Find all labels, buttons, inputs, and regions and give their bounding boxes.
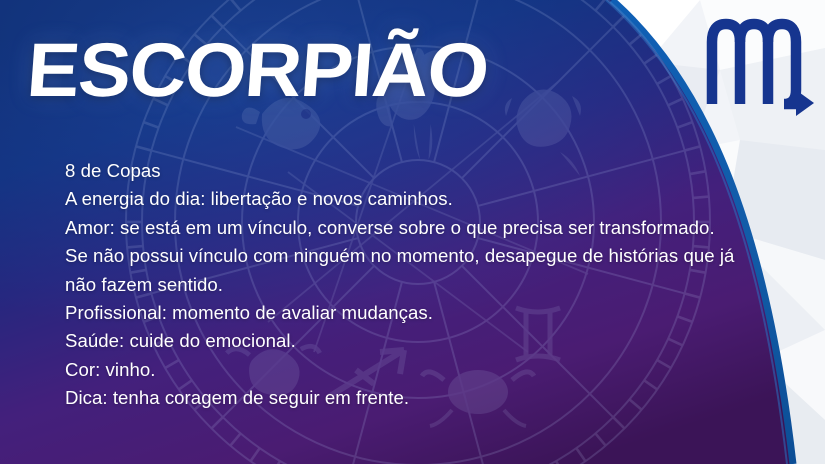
horoscope-line: Saúde: cuide do emocional.: [65, 327, 755, 355]
horoscope-line: Amor: se está em um vínculo, converse so…: [65, 214, 755, 242]
scorpio-glyph-graphic: [700, 8, 818, 120]
horoscope-line: Dica: tenha coragem de seguir em frente.: [65, 384, 755, 412]
horoscope-line: 8 de Copas: [65, 157, 755, 185]
horoscope-text-block: 8 de Copas A energia do dia: libertação …: [65, 157, 755, 413]
horoscope-line: A energia do dia: libertação e novos cam…: [65, 185, 755, 213]
scorpio-zodiac-glyph-icon: [700, 8, 818, 120]
horoscope-line: Profissional: momento de avaliar mudança…: [65, 299, 755, 327]
horoscope-line: Se não possui vínculo com ninguém no mom…: [65, 242, 755, 299]
horoscope-line: Cor: vinho.: [65, 356, 755, 384]
page-title: ESCORPIÃO: [24, 33, 490, 109]
horoscope-card: ESCORPIÃO 8 de Copas A energia do dia: l…: [0, 0, 825, 464]
